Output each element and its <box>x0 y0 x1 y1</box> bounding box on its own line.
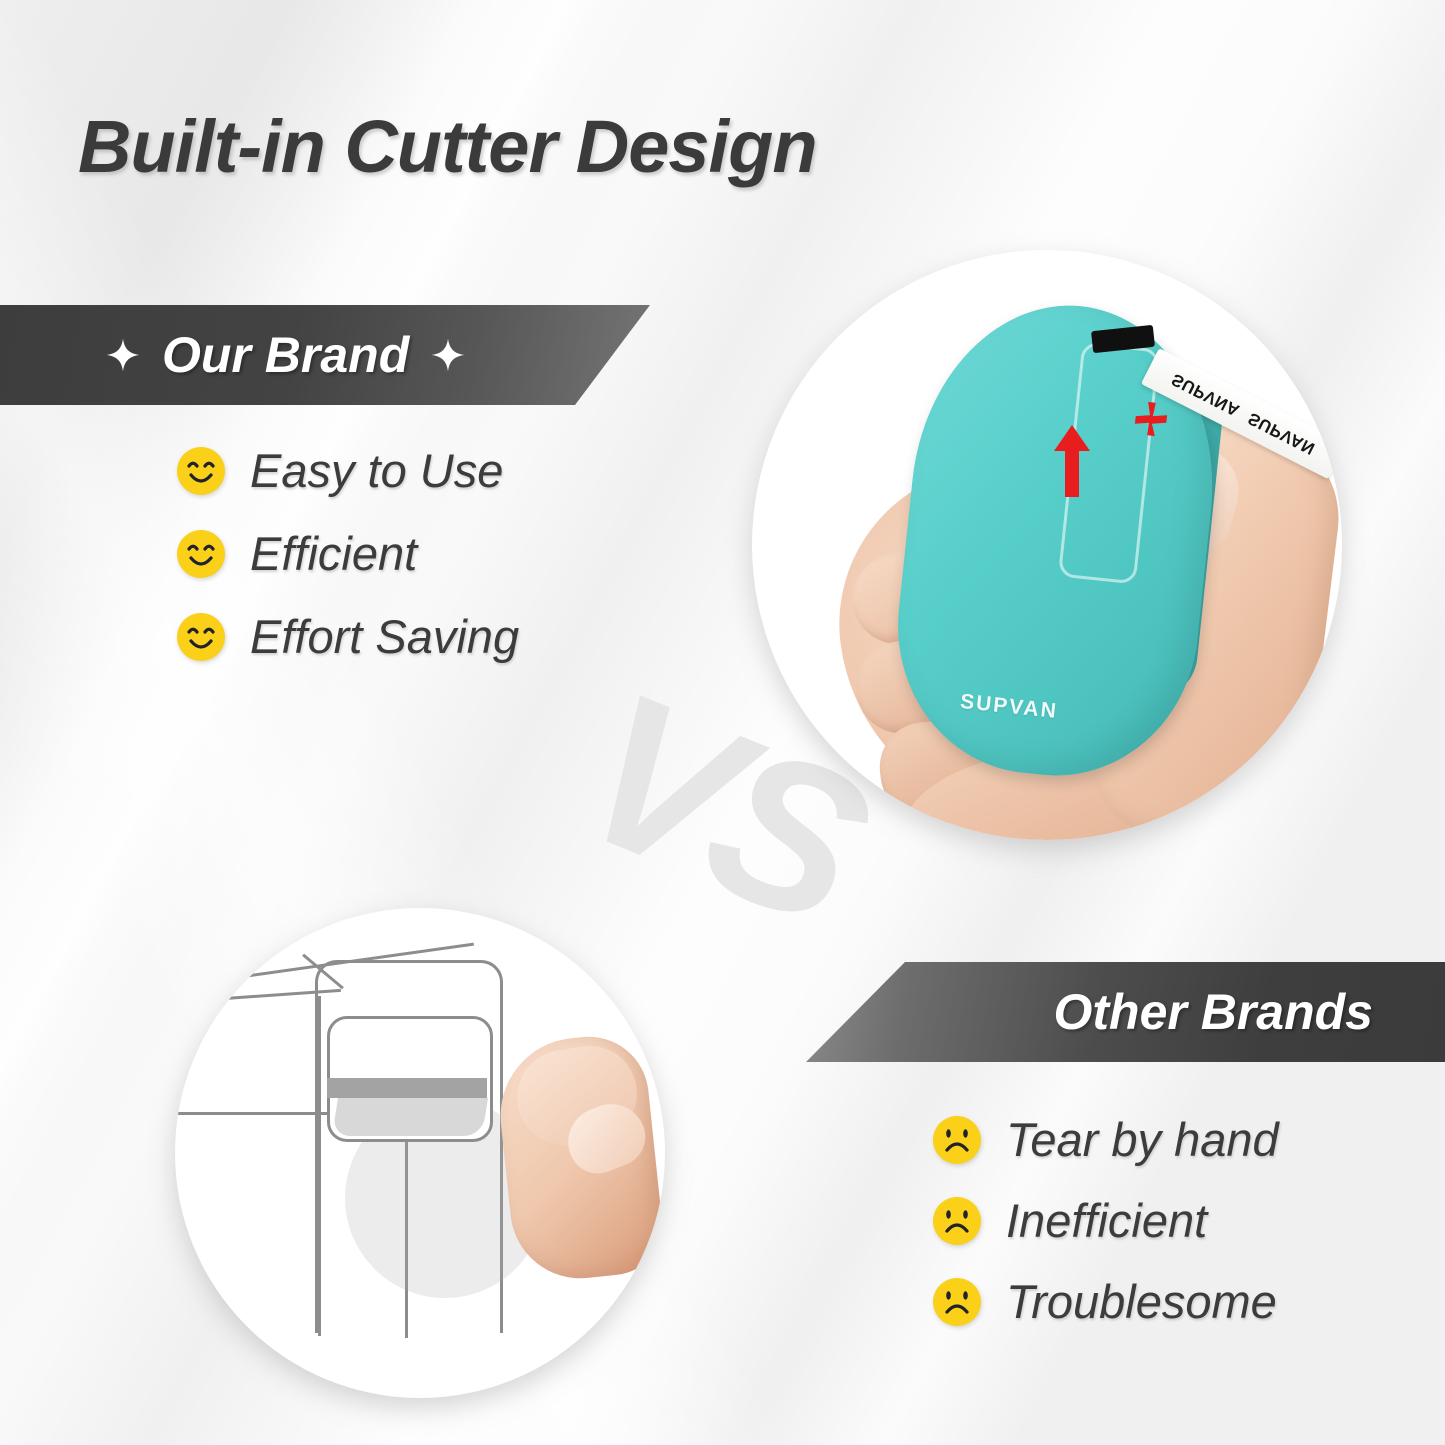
our-brand-banner-inner: Our Brand <box>106 326 465 384</box>
list-item: Troublesome <box>932 1274 1277 1329</box>
list-item: Easy to Use <box>176 443 519 498</box>
box-vertical-line-1 <box>318 996 321 1336</box>
infographic-canvas: VS Built-in Cutter Design Our Brand Easy… <box>0 0 1445 1445</box>
smiley-sad-icon <box>932 1115 982 1165</box>
list-item: Effort Saving <box>176 609 519 664</box>
feature-label: Easy to Use <box>250 443 503 498</box>
smiley-happy-icon <box>176 446 226 496</box>
plus-mark-icon <box>1132 400 1170 438</box>
our-brand-banner: Our Brand <box>0 305 650 405</box>
list-item: Efficient <box>176 526 519 581</box>
feature-label: Tear by hand <box>1006 1112 1279 1167</box>
feature-label: Inefficient <box>1006 1193 1207 1248</box>
our-brand-label: Our Brand <box>162 326 409 384</box>
up-arrow-icon <box>1052 425 1092 497</box>
smiley-sad-icon <box>932 1277 982 1327</box>
other-brands-label: Other Brands <box>1053 983 1373 1041</box>
other-brands-feature-list: Tear by hand Inefficient Troublesome <box>932 1112 1279 1329</box>
feature-label: Effort Saving <box>250 609 519 664</box>
feature-label: Troublesome <box>1006 1274 1277 1329</box>
sparkle-icon <box>431 338 465 372</box>
smiley-happy-icon <box>176 529 226 579</box>
product-in-hand-photo: SUPVNA SUPVAN SUPVAN <box>752 250 1342 840</box>
list-item: Inefficient <box>932 1193 1207 1248</box>
feature-label: Efficient <box>250 526 417 581</box>
other-brands-banner: Other Brands <box>806 962 1445 1062</box>
tear-label-by-hand-illustration <box>175 908 665 1398</box>
sparkle-icon <box>106 338 140 372</box>
smiley-happy-icon <box>176 612 226 662</box>
page-title: Built-in Cutter Design <box>78 104 817 189</box>
label-stripe <box>327 1078 487 1098</box>
label-peel-flap <box>332 1098 488 1136</box>
box-horizontal-line <box>178 1112 328 1115</box>
smiley-sad-icon <box>932 1196 982 1246</box>
other-brands-banner-inner: Other Brands <box>1053 983 1373 1041</box>
our-brand-feature-list: Easy to Use Efficient Effort Saving <box>176 443 519 664</box>
list-item: Tear by hand <box>932 1112 1279 1167</box>
